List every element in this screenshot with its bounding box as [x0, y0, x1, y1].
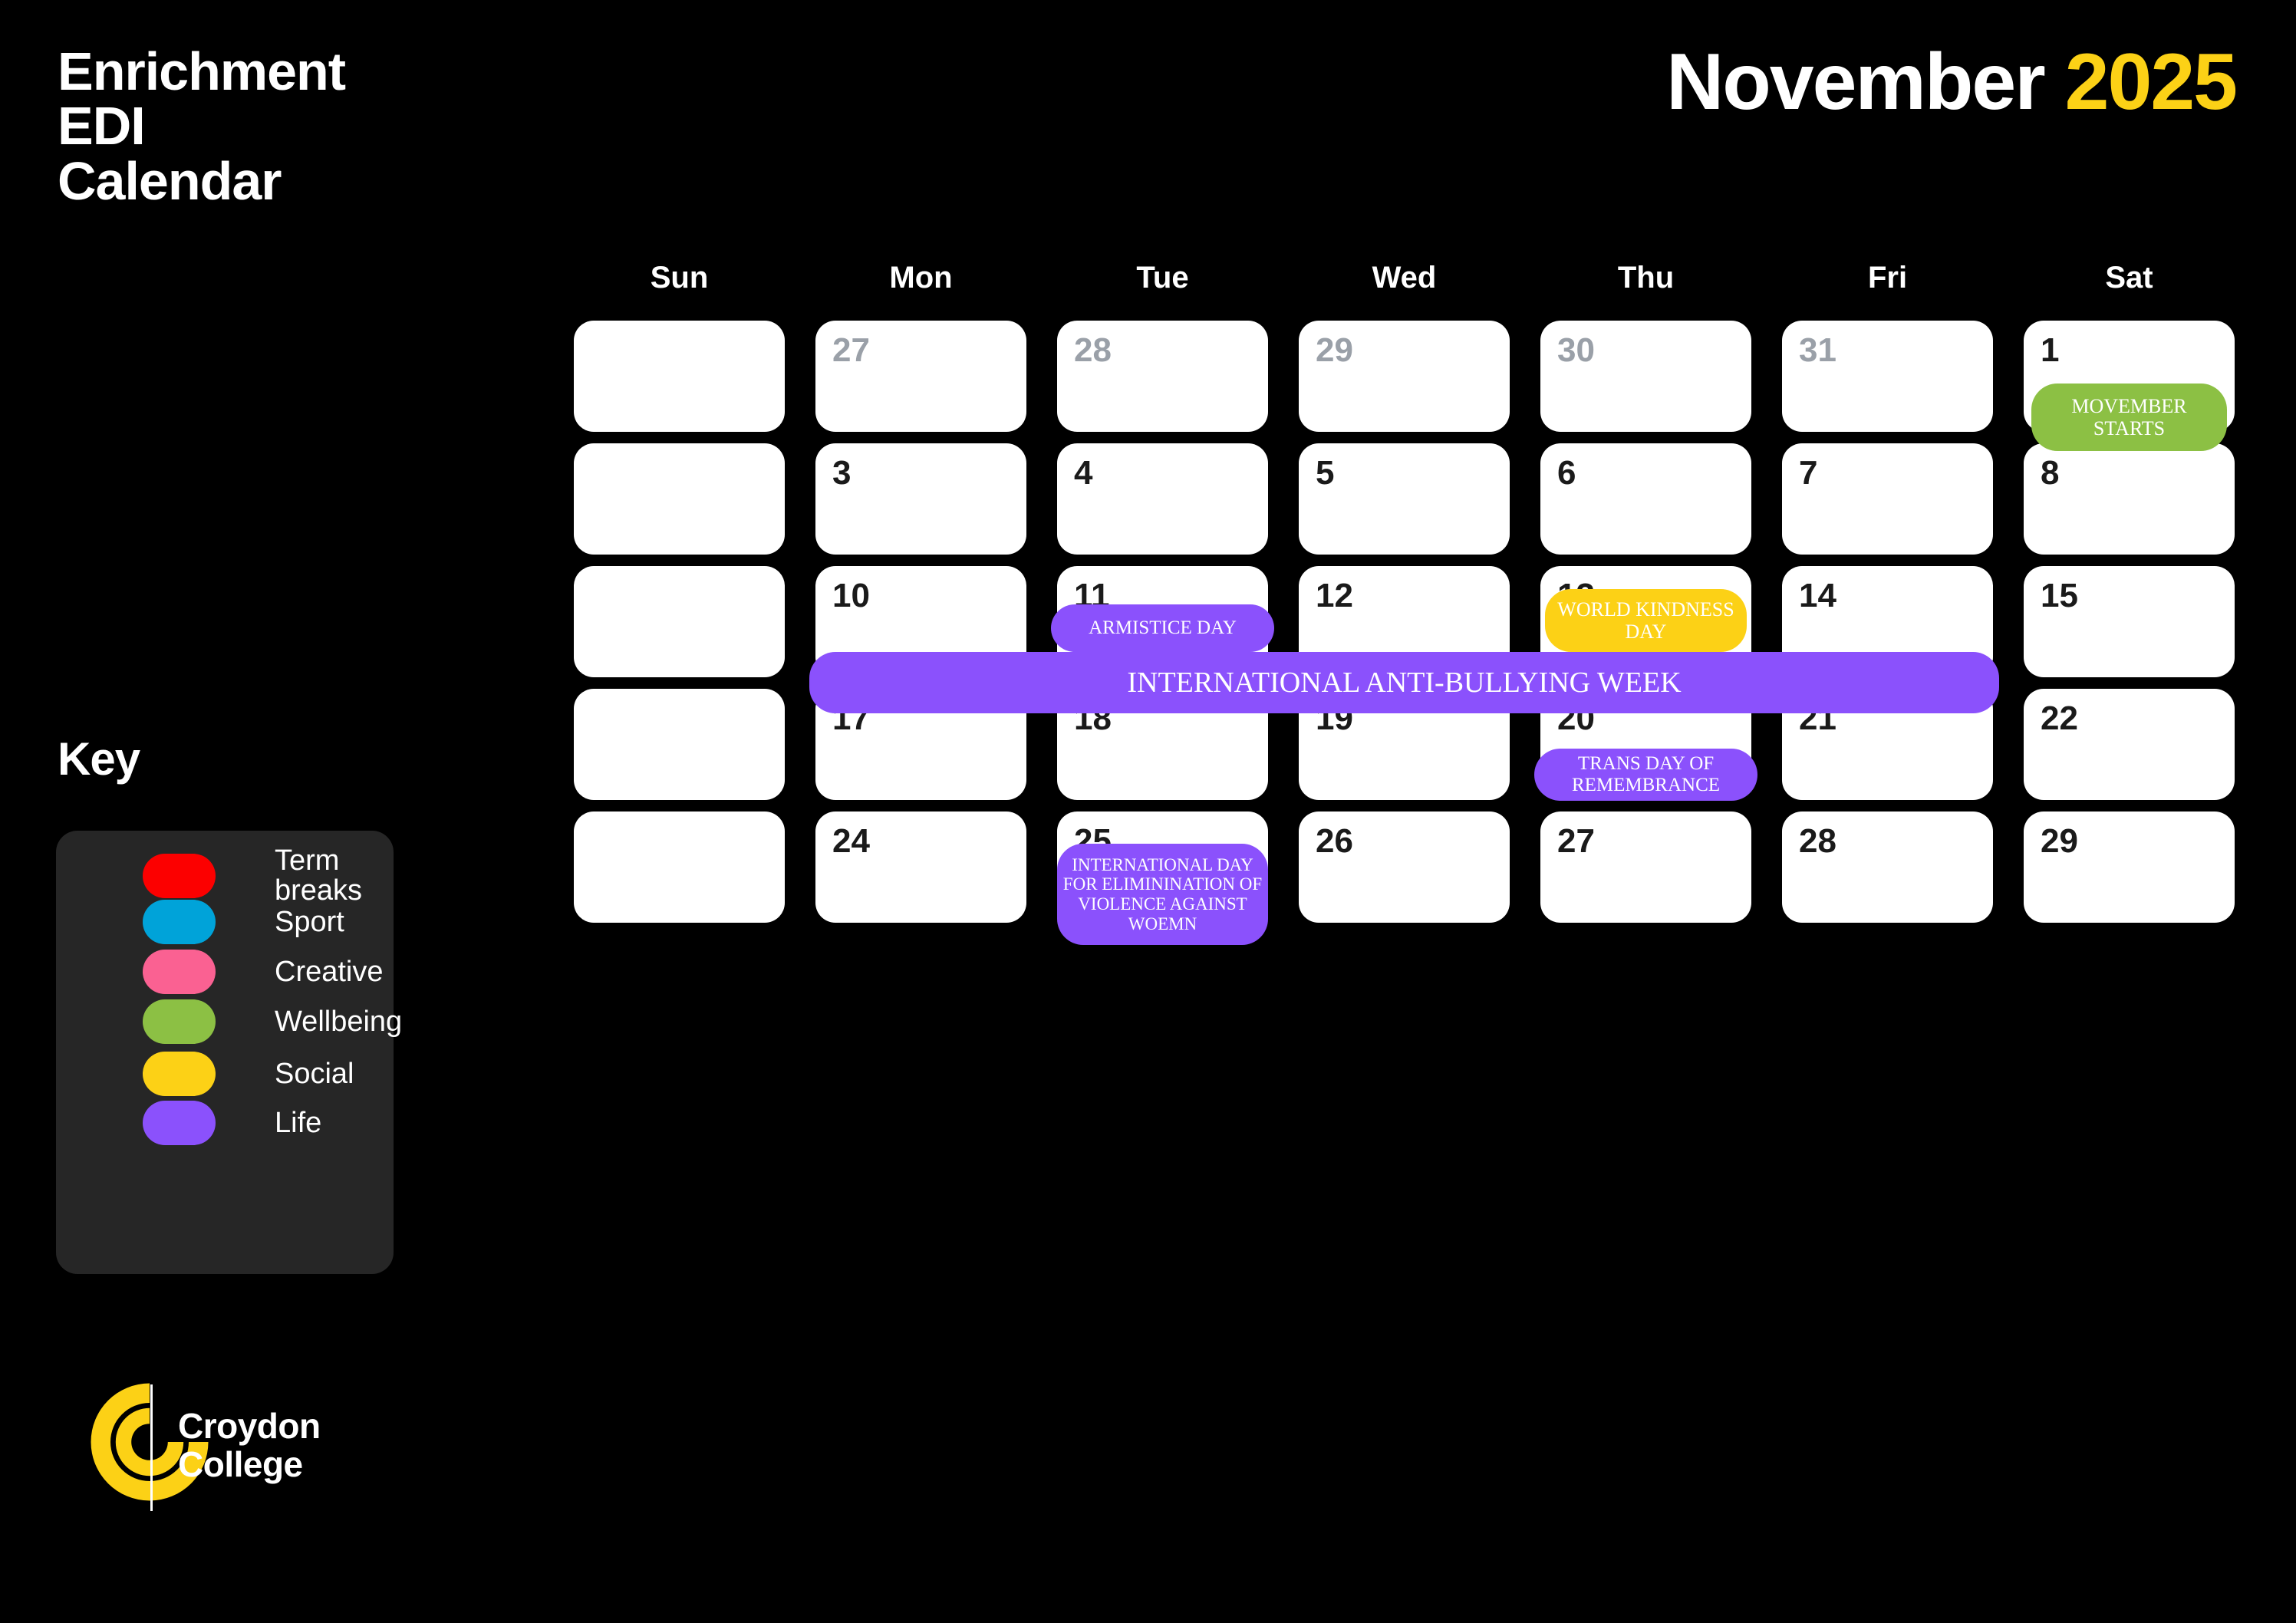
day-cell[interactable]: 27 [815, 321, 1026, 432]
key-item-term-breaks: Term breaks [143, 846, 362, 906]
calendar-weeks: 2728293031134567810111213141517181920212… [574, 321, 2238, 934]
key-item-label: Sport [275, 907, 344, 937]
key-item-life: Life [143, 1101, 321, 1145]
calendar-week-row: 345678 [574, 443, 2238, 566]
weekday-header-sat: Sat [2024, 261, 2235, 295]
page-title: Enrichment EDI Calendar [58, 44, 345, 209]
key-heading: Key [58, 732, 140, 785]
key-swatch-icon [143, 854, 216, 898]
event-chip-world-kindness-day[interactable]: WORLD KINDNESS DAY [1545, 589, 1747, 652]
day-number: 24 [832, 822, 870, 861]
day-number: 15 [2041, 577, 2078, 615]
day-number: 29 [2041, 822, 2078, 861]
day-cell[interactable]: 22 [2024, 689, 2235, 800]
day-cell[interactable]: 5 [1299, 443, 1510, 555]
day-number: 31 [1799, 331, 1836, 370]
day-cell[interactable]: 4 [1057, 443, 1268, 555]
day-cell[interactable]: 24 [815, 811, 1026, 923]
weekday-header-fri: Fri [1782, 261, 1993, 295]
day-number: 28 [1074, 331, 1112, 370]
day-number: 22 [2041, 700, 2078, 738]
key-swatch-icon [143, 999, 216, 1044]
day-cell[interactable]: 8 [2024, 443, 2235, 555]
key-item-label: Social [275, 1059, 354, 1089]
key-swatch-icon [143, 1052, 216, 1096]
day-cell[interactable] [574, 566, 785, 677]
day-cell[interactable]: 29 [1299, 321, 1510, 432]
month-name: November [1666, 38, 2044, 127]
key-item-label: Wellbeing [275, 1007, 402, 1037]
day-number: 28 [1799, 822, 1836, 861]
day-cell[interactable]: 26 [1299, 811, 1510, 923]
weekday-header-sun: Sun [574, 261, 785, 295]
key-legend-box: Term breaksSportCreativeWellbeingSocialL… [56, 831, 394, 1274]
event-chip-trans-day-of-remembrance[interactable]: TRANS DAY OF REMEMBRANCE [1534, 749, 1757, 801]
event-chip-international-anti-bullying-week[interactable]: INTERNATIONAL ANTI-BULLYING WEEK [809, 652, 1999, 713]
weekday-header-tue: Tue [1057, 261, 1268, 295]
key-item-sport: Sport [143, 900, 344, 944]
day-cell[interactable] [574, 321, 785, 432]
weekday-header-wed: Wed [1299, 261, 1510, 295]
key-swatch-icon [143, 1101, 216, 1145]
day-cell[interactable]: 15 [2024, 566, 2235, 677]
calendar-week-row: 242526272829 [574, 811, 2238, 934]
day-cell[interactable]: 30 [1540, 321, 1751, 432]
day-cell[interactable]: 29 [2024, 811, 2235, 923]
day-cell[interactable]: 31 [1782, 321, 1993, 432]
day-cell[interactable] [574, 689, 785, 800]
day-cell[interactable]: 28 [1057, 321, 1268, 432]
day-cell[interactable] [574, 811, 785, 923]
key-item-label: Creative [275, 957, 384, 987]
day-cell[interactable] [574, 443, 785, 555]
key-item-wellbeing: Wellbeing [143, 999, 402, 1044]
day-number: 8 [2041, 454, 2059, 492]
day-cell[interactable]: 3 [815, 443, 1026, 555]
day-number: 5 [1316, 454, 1334, 492]
event-chip-international-day-for-elimination-of-violence-against-women[interactable]: INTERNATIONAL DAY FOR ELIMININATION OF V… [1057, 844, 1268, 945]
day-cell[interactable]: 7 [1782, 443, 1993, 555]
day-number: 7 [1799, 454, 1817, 492]
key-swatch-icon [143, 950, 216, 994]
day-number: 6 [1557, 454, 1576, 492]
key-item-label: Life [275, 1108, 321, 1138]
day-cell[interactable]: 28 [1782, 811, 1993, 923]
calendar-grid: SunMonTueWedThuFriSat 272829303113456781… [574, 261, 2238, 934]
weekday-header-mon: Mon [815, 261, 1026, 295]
day-number: 14 [1799, 577, 1836, 615]
day-number: 3 [832, 454, 851, 492]
weekday-header-row: SunMonTueWedThuFriSat [574, 261, 2238, 321]
event-chip-armistice-day[interactable]: ARMISTICE DAY [1051, 604, 1274, 652]
day-number: 1 [2041, 331, 2059, 370]
day-number: 29 [1316, 331, 1353, 370]
day-number: 12 [1316, 577, 1353, 615]
event-chip-movember-starts[interactable]: MOVEMBER STARTS [2031, 384, 2227, 451]
day-cell[interactable]: 6 [1540, 443, 1751, 555]
key-item-label: Term breaks [275, 846, 362, 906]
day-number: 26 [1316, 822, 1353, 861]
month-year-header: November 2025 [1666, 37, 2236, 128]
day-number: 27 [1557, 822, 1595, 861]
day-number: 27 [832, 331, 870, 370]
key-swatch-icon [143, 900, 216, 944]
day-number: 4 [1074, 454, 1092, 492]
day-number: 30 [1557, 331, 1595, 370]
day-cell[interactable]: 27 [1540, 811, 1751, 923]
key-item-creative: Creative [143, 950, 384, 994]
logo-divider [150, 1384, 153, 1511]
logo-text: Croydon College [178, 1407, 321, 1483]
day-number: 10 [832, 577, 870, 615]
weekday-header-thu: Thu [1540, 261, 1751, 295]
key-item-social: Social [143, 1052, 354, 1096]
calendar-week-row: 27282930311 [574, 321, 2238, 443]
year-value: 2025 [2065, 38, 2236, 127]
